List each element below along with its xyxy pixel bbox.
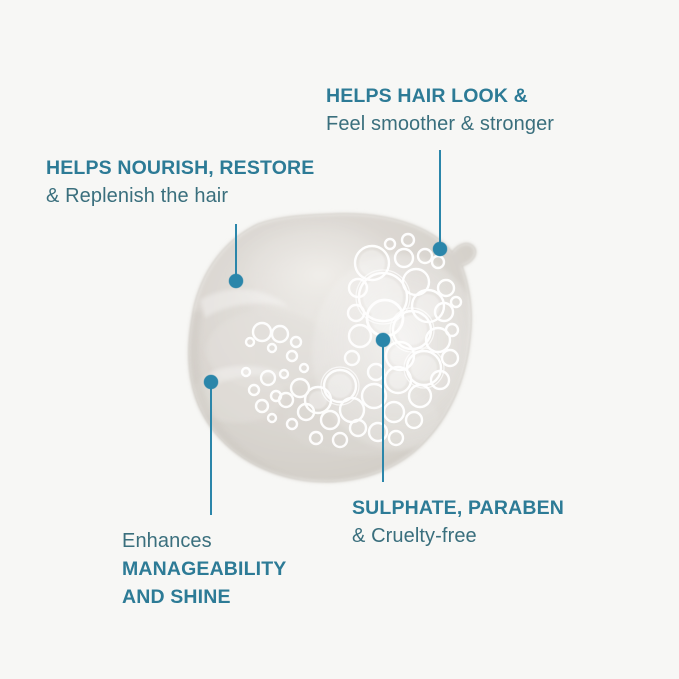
callout-nourish-heading: HELPS NOURISH, RESTORE (46, 154, 314, 182)
callout-manageability-heading: MANAGEABILITY (122, 555, 286, 583)
leader-line-smoother (439, 150, 441, 250)
callout-sulphate-subtext: & Cruelty-free (352, 522, 564, 550)
callout-helps-nourish-restore: HELPS NOURISH, RESTORE & Replenish the h… (46, 154, 314, 210)
foam-bubbles (242, 234, 461, 447)
callout-sulphate-heading: SULPHATE, PARABEN (352, 494, 564, 522)
leader-line-sulphate (382, 340, 384, 482)
product-benefits-infographic: HELPS HAIR LOOK & Feel smoother & strong… (0, 0, 679, 679)
leader-line-manageability (210, 382, 212, 515)
leader-dot-manageability (204, 375, 218, 389)
callout-smoother-subtext: Feel smoother & stronger (326, 110, 554, 138)
leader-dot-smoother (433, 242, 447, 256)
callout-smoother-heading: HELPS HAIR LOOK & (326, 82, 554, 110)
leader-dot-sulphate (376, 333, 390, 347)
callout-manageability-shine: Enhances MANAGEABILITY AND SHINE (122, 527, 286, 611)
leader-dot-nourish (229, 274, 243, 288)
blob-body (189, 214, 476, 482)
callout-sulphate-paraben: SULPHATE, PARABEN & Cruelty-free (352, 494, 564, 550)
callout-helps-hair-look: HELPS HAIR LOOK & Feel smoother & strong… (326, 82, 554, 138)
callout-manageability-heading-2: AND SHINE (122, 583, 286, 611)
callout-manageability-subtext: Enhances (122, 527, 286, 555)
callout-nourish-subtext: & Replenish the hair (46, 182, 314, 210)
